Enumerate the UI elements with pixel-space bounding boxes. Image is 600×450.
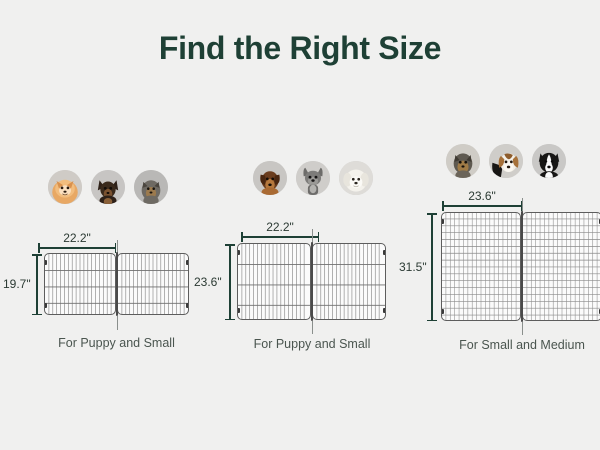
height-dimension-label: 31.5" — [399, 260, 427, 274]
beagle-icon — [489, 144, 523, 178]
pomeranian-icon — [48, 170, 82, 204]
panel-connector-tab — [441, 219, 444, 224]
width-dimension-line — [38, 247, 116, 249]
pen-hinge-post — [311, 242, 313, 321]
height-dimension-label: 19.7" — [3, 277, 31, 291]
dog-photo-row — [48, 170, 168, 204]
panel-connector-tab — [441, 309, 444, 314]
french-bulldog-icon — [296, 161, 330, 195]
yorkshire-terrier-icon — [134, 170, 168, 204]
height-dimension-label: 23.6" — [194, 275, 222, 289]
wire-mesh — [45, 254, 115, 314]
wire-mesh — [523, 213, 600, 320]
pen-panel-right — [312, 243, 386, 320]
page-title: Find the Right Size — [0, 30, 600, 67]
wire-mesh — [238, 244, 310, 319]
pen-caption: For Small and Medium — [404, 338, 600, 352]
panel-connector-tab — [44, 303, 47, 308]
hinge-extension-line — [312, 229, 313, 243]
panel-connector-tab — [186, 260, 189, 265]
wire-mesh — [118, 254, 188, 314]
dog-photo-row — [253, 161, 373, 195]
height-dimension-line — [431, 213, 433, 321]
hinge-extension-line — [117, 316, 118, 330]
panel-connector-tab — [44, 260, 47, 265]
beagle-photo — [489, 144, 523, 178]
dachshund-icon — [253, 161, 287, 195]
width-dimension-label: 22.2" — [241, 220, 319, 234]
pen-caption: For Puppy and Small — [196, 337, 428, 351]
border-collie-icon — [532, 144, 566, 178]
wire-mesh — [442, 213, 520, 320]
height-dimension-line — [229, 244, 231, 320]
hinge-extension-line — [522, 322, 523, 335]
border-collie-photo — [532, 144, 566, 178]
pen-panel-left — [44, 253, 116, 315]
width-dimension-label: 22.2" — [38, 231, 116, 245]
width-dimension-line — [442, 205, 522, 207]
width-dimension-line — [241, 236, 319, 238]
yorkshire-terrier-photo — [446, 144, 480, 178]
pen-panel-left — [237, 243, 311, 320]
maltese-icon — [339, 161, 373, 195]
height-dimension-line — [36, 254, 38, 315]
panel-connector-tab — [186, 303, 189, 308]
panel-connector-tab — [383, 308, 386, 313]
pen-panel-right — [117, 253, 189, 315]
yorkshire-terrier-icon — [446, 144, 480, 178]
panel-connector-tab — [237, 250, 240, 255]
hinge-extension-line — [312, 321, 313, 334]
panel-connector-tab — [383, 250, 386, 255]
maltese-photo — [339, 161, 373, 195]
hinge-extension-line — [522, 198, 523, 212]
chihuahua-photo — [91, 170, 125, 204]
french-bulldog-photo — [296, 161, 330, 195]
chihuahua-icon — [91, 170, 125, 204]
pen-hinge-post — [521, 211, 523, 322]
pen-hinge-post — [116, 252, 118, 316]
pen-panel-right — [522, 212, 600, 321]
width-dimension-label: 23.6" — [442, 189, 522, 203]
dog-photo-row — [446, 144, 566, 178]
wire-mesh — [313, 244, 385, 319]
pomeranian-photo — [48, 170, 82, 204]
pen-panel-left — [441, 212, 521, 321]
dachshund-photo — [253, 161, 287, 195]
panel-connector-tab — [237, 308, 240, 313]
yorkshire-terrier-photo — [134, 170, 168, 204]
